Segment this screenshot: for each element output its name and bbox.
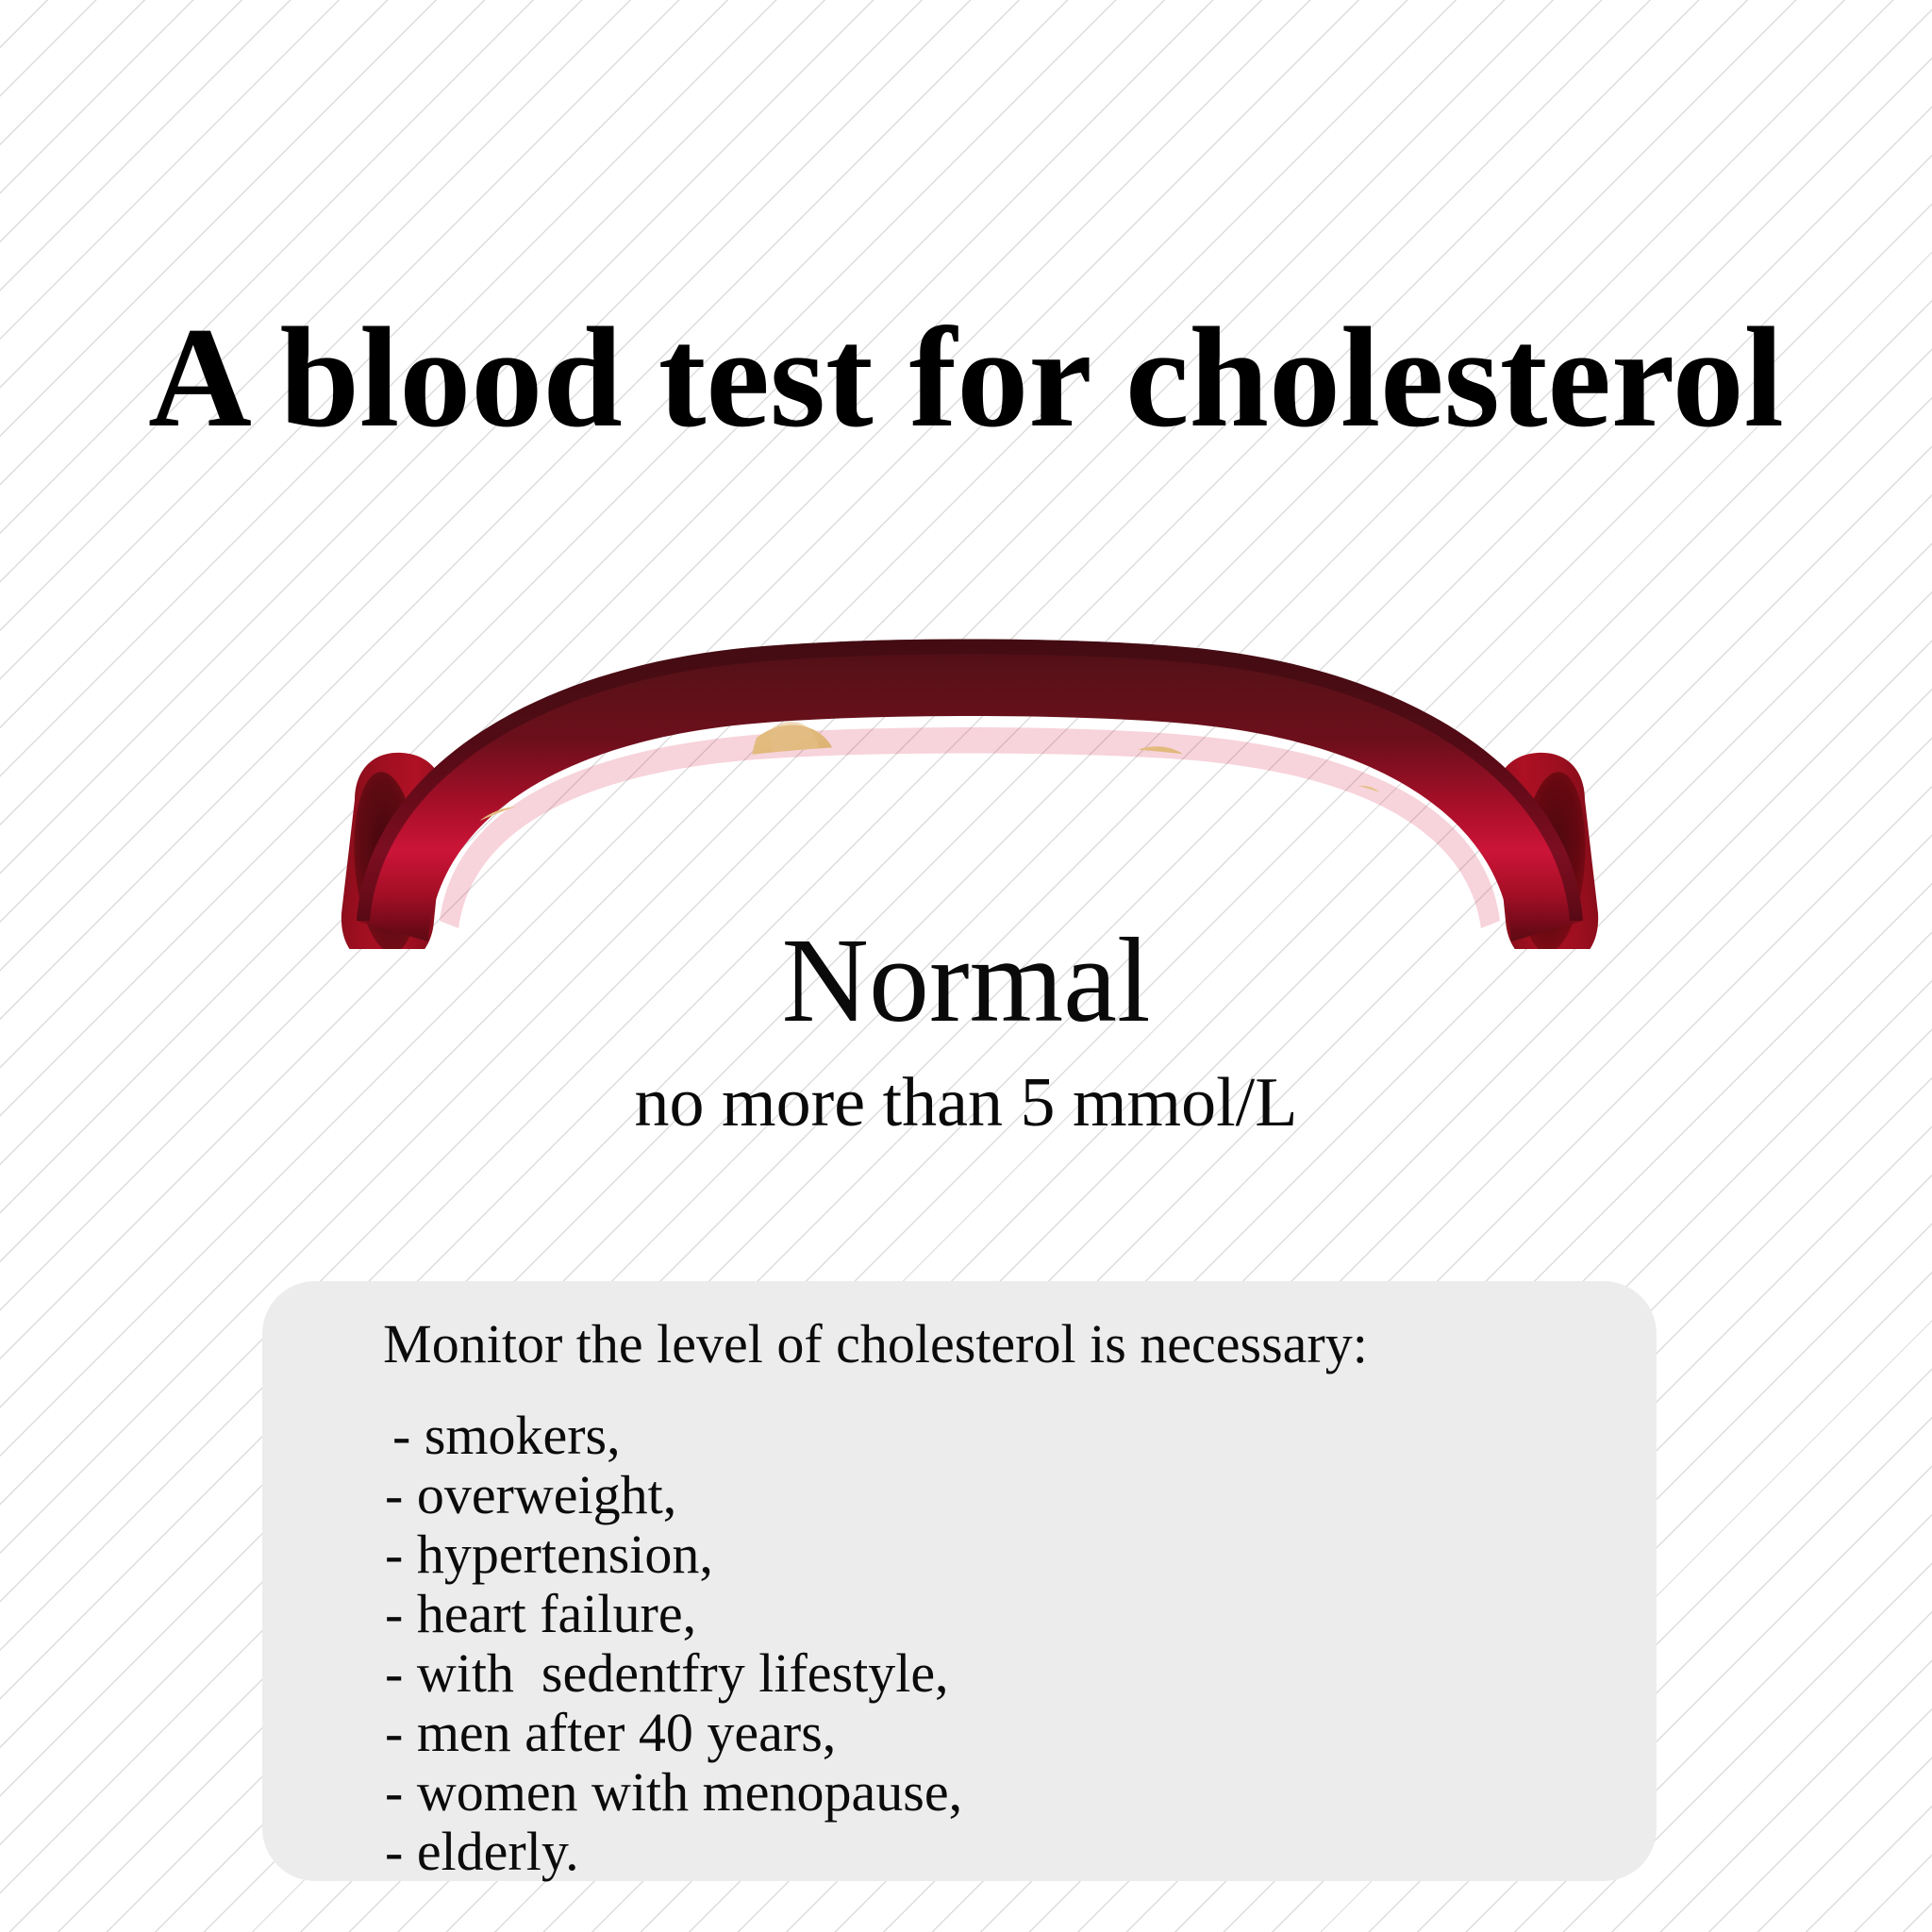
list-item: - men after 40 years, [385, 1703, 962, 1762]
vessel-body [357, 640, 1583, 942]
list-item: - women with menopause, [385, 1762, 962, 1822]
risk-group-list: - smokers, - overweight, - hypertension,… [385, 1406, 962, 1881]
page-title: A blood test for cholesterol [0, 306, 1932, 449]
list-item: - overweight, [385, 1465, 962, 1524]
blood-vessel-illustration [328, 638, 1611, 949]
blood-vessel-svg [328, 638, 1611, 949]
list-item: - with sedentfry lifestyle, [385, 1643, 962, 1703]
status-label: Normal [0, 920, 1932, 1041]
plaque [931, 768, 988, 858]
list-item: - hypertension, [385, 1524, 962, 1584]
status-note: no more than 5 mmol/L [0, 1068, 1932, 1138]
list-item: - elderly. [385, 1822, 962, 1881]
list-item: - heart failure, [385, 1584, 962, 1643]
plaque [1110, 746, 1207, 895]
info-box-heading: Monitor the level of cholesterol is nece… [262, 1317, 1489, 1372]
info-box: Monitor the level of cholesterol is nece… [262, 1281, 1657, 1881]
infographic-page: A blood test for cholesterol [0, 0, 1932, 1932]
list-item: - smokers, [385, 1406, 962, 1465]
